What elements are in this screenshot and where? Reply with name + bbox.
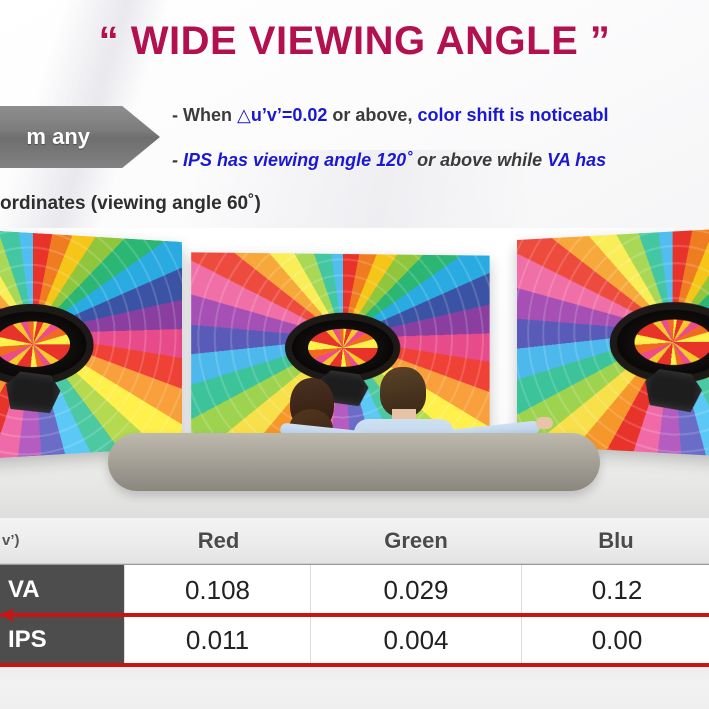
- bullet-1-emph1: u’v’=0.02: [251, 105, 328, 125]
- man-right-hand: [536, 417, 553, 429]
- ips-green-value: 0.004: [310, 615, 521, 665]
- slide-canvas: “ WIDE VIEWING ANGLE ” m any - When △u’v…: [0, 0, 709, 709]
- tv-photo-band: [0, 228, 709, 518]
- table-header-row: v’) Red Green Blu: [0, 518, 709, 564]
- sofa: [108, 433, 600, 491]
- table-row-va: VA 0.108 0.029 0.12: [0, 564, 709, 615]
- bullet-1-emph2: color shift is noticeabl: [417, 105, 608, 125]
- va-blue-value: 0.12: [521, 565, 709, 615]
- section-subtitle: r Coordinates (viewing angle 60˚): [0, 193, 261, 215]
- row-label-ips: IPS: [0, 615, 124, 665]
- tv-panel-left: [0, 228, 182, 467]
- table-header-blue: Blu: [521, 518, 709, 563]
- bullet-2-emph1: IPS has viewing angle 120˚: [183, 150, 412, 170]
- tv-left-screen: [0, 228, 182, 467]
- bullet-dash-2: -: [172, 150, 178, 170]
- table-row-ips: IPS 0.011 0.004 0.00: [0, 615, 709, 665]
- measurement-table: v’) Red Green Blu VA 0.108 0.029 0.12 IP…: [0, 518, 709, 665]
- bullet-item-1: - When △u’v’=0.02 or above, color shift …: [172, 105, 608, 126]
- table-header-green: Green: [311, 518, 521, 563]
- highlight-border-bottom: [0, 663, 709, 667]
- table-header-metric: v’): [0, 518, 126, 563]
- ips-red-value: 0.011: [124, 615, 310, 665]
- balloon-mouth-inner-center: [308, 329, 377, 368]
- page-title: “ WIDE VIEWING ANGLE ”: [0, 19, 709, 64]
- bullet-2-seg2: or above while: [412, 150, 547, 170]
- footer-strip: [0, 667, 709, 709]
- red-arrow-icon: [0, 606, 18, 624]
- bullet-dash: -: [172, 105, 178, 125]
- va-green-value: 0.029: [310, 565, 521, 615]
- delta-triangle-icon: △: [237, 105, 251, 125]
- bullet-1-seg1: When: [183, 105, 237, 125]
- table-header-red: Red: [126, 518, 311, 563]
- bullet-1-seg2: or above,: [327, 105, 417, 125]
- balloon-mouth-inner-left: [0, 321, 70, 367]
- highlight-border-top: [0, 613, 709, 617]
- bullet-2-emph2: VA has: [547, 150, 606, 170]
- ips-blue-value: 0.00: [521, 615, 709, 665]
- va-red-value: 0.108: [124, 565, 310, 615]
- chevron-banner-label: m any: [0, 106, 118, 168]
- bullet-item-2: - IPS has viewing angle 120˚ or above wh…: [172, 150, 606, 171]
- balloon-mouth-inner-right: [634, 319, 709, 365]
- chevron-banner: m any: [0, 106, 160, 168]
- row-label-va: VA: [0, 565, 124, 615]
